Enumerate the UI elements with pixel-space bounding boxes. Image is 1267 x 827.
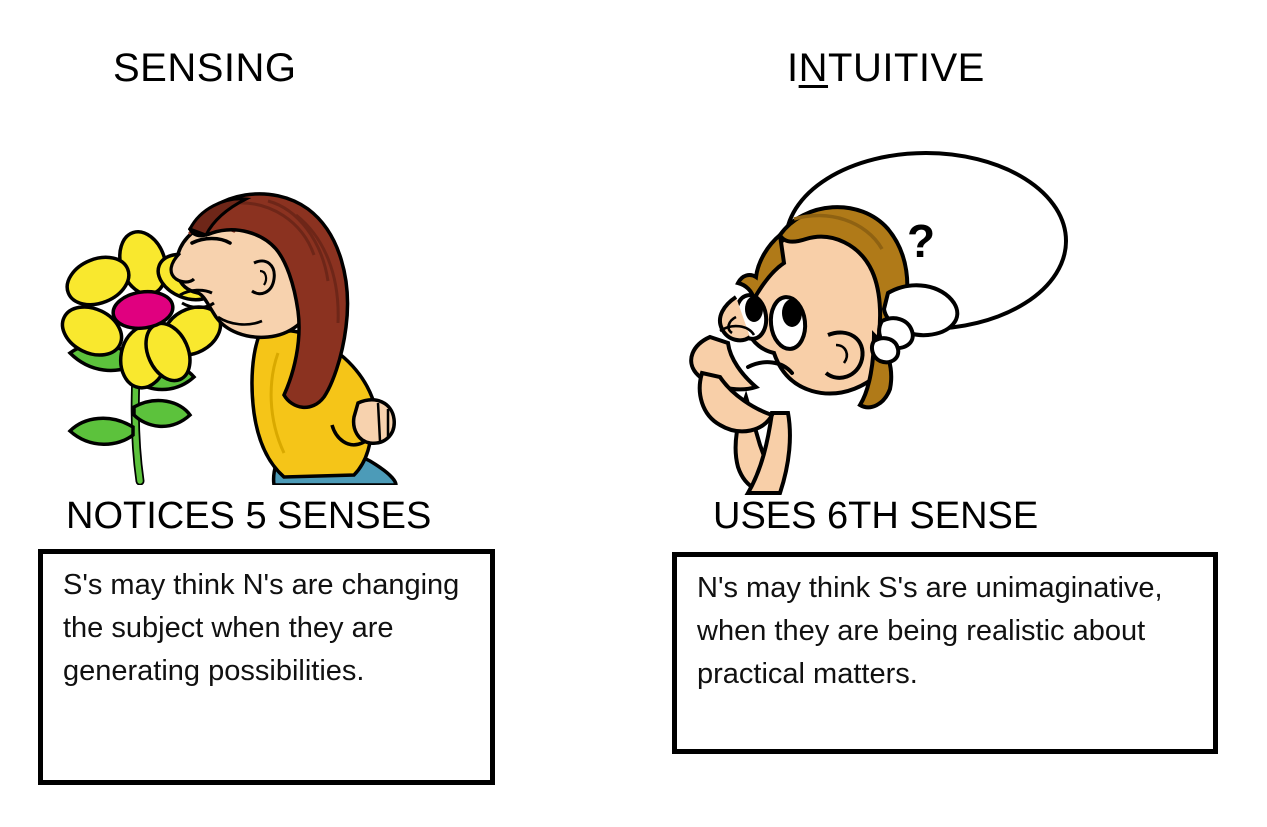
column-title-intuitive-rest: TUITIVE [828, 46, 985, 90]
note-box-sensing: S's may think N's are changing the subje… [38, 549, 495, 785]
caption-uses-6th-sense: USES 6TH SENSE [713, 497, 1038, 535]
column-title-intuitive: INTUITIVE [787, 48, 985, 88]
slide-canvas: SENSING INTUITIVE [0, 0, 1267, 827]
column-title-intuitive-lead: I [787, 46, 799, 90]
underlined-letter-n: N [799, 46, 828, 90]
note-box-intuitive: N's may think S's are unimaginative, whe… [672, 552, 1218, 754]
illustration-man-thinking: ? [676, 145, 1076, 500]
note-text-intuitive: N's may think S's are unimaginative, whe… [677, 557, 1213, 696]
column-title-sensing: SENSING [113, 48, 297, 88]
note-text-sensing: S's may think N's are changing the subje… [43, 554, 490, 693]
caption-notices-5-senses: NOTICES 5 SENSES [66, 497, 431, 535]
thought-bubble-question-mark: ? [907, 215, 935, 267]
illustration-girl-smelling-flower [40, 145, 400, 490]
